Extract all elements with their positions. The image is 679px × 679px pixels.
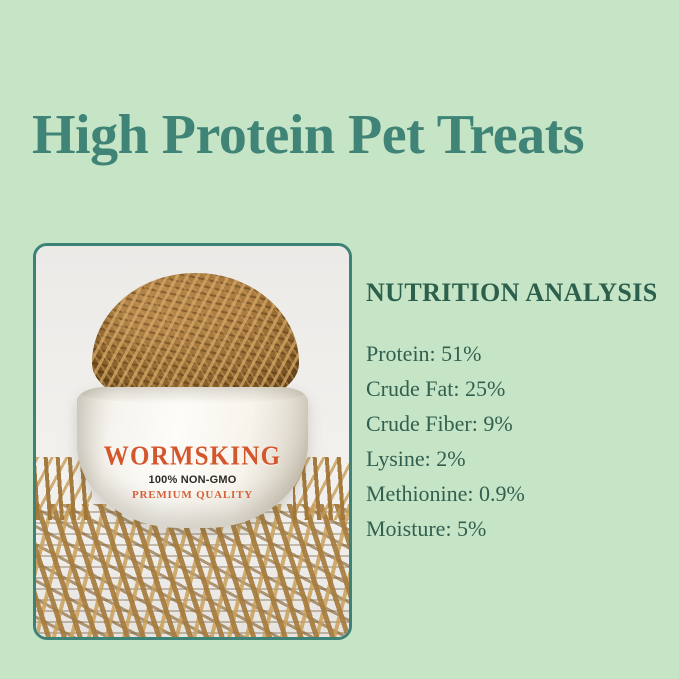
nutrition-panel: NUTRITION ANALYSIS Protein: 51% Crude Fa… (366, 278, 666, 546)
nutrition-heading: NUTRITION ANALYSIS (366, 278, 666, 308)
nutrition-item-moisture: Moisture: 5% (366, 511, 666, 546)
product-photo: WORMSKING 100% NON-GMO PREMIUM QUALITY (36, 246, 349, 637)
nutrition-item-protein: Protein: 51% (366, 336, 666, 371)
product-photo-frame: WORMSKING 100% NON-GMO PREMIUM QUALITY (33, 243, 352, 640)
product-poster: High Protein Pet Treats WORMSKING 100% N… (0, 0, 679, 679)
nutrition-list: Protein: 51% Crude Fat: 25% Crude Fiber:… (366, 336, 666, 546)
nutrition-item-lysine: Lysine: 2% (366, 441, 666, 476)
bowl-premium-quality-label: PREMIUM QUALITY (77, 489, 309, 501)
page-title: High Protein Pet Treats (32, 104, 584, 166)
bowl-non-gmo-label: 100% NON-GMO (77, 474, 309, 486)
bowl-rim (79, 387, 306, 404)
nutrition-item-crude-fat: Crude Fat: 25% (366, 371, 666, 406)
bowl-brand-label: WORMSKING (77, 442, 309, 472)
nutrition-item-crude-fiber: Crude Fiber: 9% (366, 406, 666, 441)
nutrition-item-methionine: Methionine: 0.9% (366, 476, 666, 511)
ceramic-bowl: WORMSKING 100% NON-GMO PREMIUM QUALITY (77, 387, 309, 528)
